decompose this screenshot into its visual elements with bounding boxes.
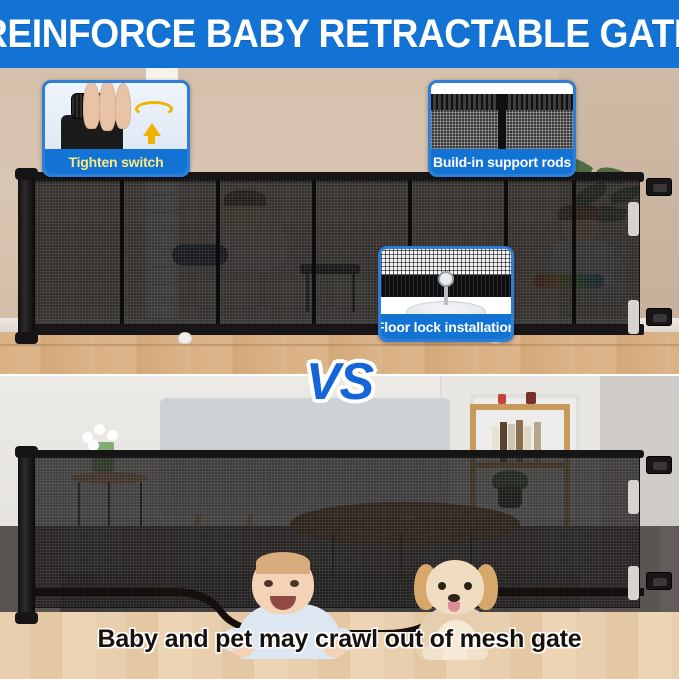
callout-floor-lock[interactable]: Floor lock installation <box>378 246 514 342</box>
header-banner: REINFORCE BABY RETRACTABLE GATE <box>0 0 679 68</box>
finger-icon <box>115 83 131 129</box>
support-rod-icon <box>498 94 506 149</box>
floor-seam <box>0 344 679 346</box>
callout-support-rods[interactable]: Build-in support rods <box>428 80 576 177</box>
wall-latch-bottom <box>646 572 672 590</box>
product-comparison-image: REINFORCE BABY RETRACTABLE GATE <box>0 0 679 679</box>
flower <box>107 430 118 441</box>
ordinary-gate-left-post <box>18 450 35 620</box>
flower <box>94 424 105 435</box>
support-rods-illustration <box>431 83 573 149</box>
callout-label-floor-lock: Floor lock installation <box>381 314 511 339</box>
mesh-top-edge <box>431 83 573 94</box>
wall-latch-top <box>646 456 672 474</box>
tighten-switch-illustration <box>45 83 187 149</box>
gate-post-cap-bottom <box>15 612 38 624</box>
dog-nose <box>448 594 460 602</box>
latch-plate-top <box>628 480 639 514</box>
support-rod <box>312 180 316 328</box>
support-rod <box>216 180 220 328</box>
finger-icon <box>83 83 100 129</box>
wall-latch-top <box>646 178 672 196</box>
callout-tighten-switch[interactable]: Tighten switch <box>42 80 190 177</box>
support-rod <box>572 180 576 328</box>
vs-badge: VS <box>0 352 679 412</box>
gate-post-cap-top <box>15 446 38 458</box>
dog-eye <box>438 582 446 590</box>
baby-eye <box>290 580 299 587</box>
baby-hair <box>256 552 310 574</box>
gate-post-cap-top <box>15 168 38 180</box>
floor-lock-anchor <box>178 332 192 344</box>
top-panel: Tighten switch Build-in support rods F <box>0 68 679 374</box>
dog-eye <box>464 582 472 590</box>
latch-plate-top <box>628 202 639 236</box>
finger-icon <box>99 83 116 131</box>
gate-post-cap-bottom <box>15 332 38 344</box>
support-rod <box>120 180 124 328</box>
baby-eye <box>264 580 273 587</box>
latch-plate-bottom <box>628 300 639 334</box>
callout-label-tighten-switch: Tighten switch <box>45 149 187 174</box>
rotate-arrow-icon <box>135 101 173 117</box>
page-title: REINFORCE BABY RETRACTABLE GATE <box>0 12 679 57</box>
wall-latch-bottom <box>646 308 672 326</box>
gate-bottom-rail <box>24 324 644 335</box>
latch-plate-bottom <box>628 566 639 600</box>
callout-label-support-rods: Build-in support rods <box>431 149 573 174</box>
lock-knob-icon <box>438 271 454 287</box>
callout-pointer <box>438 338 454 342</box>
floor-lock-illustration <box>381 249 511 314</box>
bottom-caption: Baby and pet may crawl out of mesh gate <box>0 625 679 654</box>
gate-left-post <box>18 172 35 340</box>
up-arrow-stem-icon <box>148 134 155 144</box>
